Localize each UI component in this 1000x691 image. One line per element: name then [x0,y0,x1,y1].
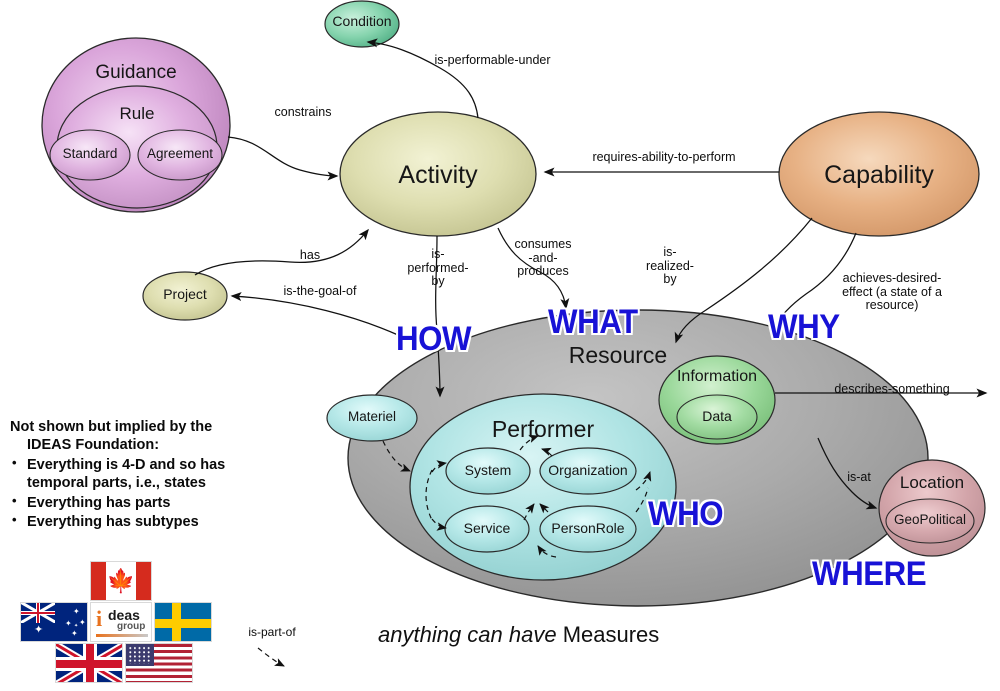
node-label-location: Location [882,473,982,492]
edge-label-consumes-and-produces: consumes -and- produces [494,238,592,279]
ideas-logo-underline [96,634,148,637]
edge-label-requires-ability-to-perform: requires-ability-to-perform [566,151,762,165]
node-label-agreement: Agreement [138,146,222,161]
node-label-information: Information [660,368,774,386]
union-jack-canton [21,603,55,623]
question-word-what: WHAT [548,303,638,342]
commonwealth-star-icon: ✦ [34,625,43,636]
canada-flag-icon: 🍁 [90,561,152,601]
question-word-how: HOW [396,320,471,359]
sweden-cross-horizontal [155,619,211,628]
node-label-guidance: Guidance [66,62,206,83]
node-label-standard: Standard [50,146,130,161]
united-states-flag-icon [125,643,193,683]
edge-is-the-goal-of [232,296,398,335]
diagram-canvas: Activity Capability Condition Guidance R… [0,0,1000,691]
edge-is-part-of-legend [258,648,284,666]
southern-cross-star-icon: ✦ [71,630,78,638]
implied-notes-block: Not shown but implied by the IDEAS Found… [10,418,275,531]
edge-label-achieves-desired-effect: achieves-desired- effect (a state of a r… [818,272,966,313]
node-label-rule: Rule [87,104,187,123]
canada-flag-band-right [136,562,151,600]
canton-cross-horizontal-red [21,612,55,614]
node-label-project: Project [145,287,225,303]
notes-bullet-item: Everything has parts [10,494,275,512]
southern-cross-star-icon: ✦ [65,620,72,628]
notes-bullet-list: Everything is 4-D and so has temporal pa… [10,456,275,532]
southern-cross-star-icon: ✦ [79,619,86,627]
notes-heading-line1: Not shown but implied by the [10,418,275,436]
node-label-personrole: PersonRole [540,521,636,537]
uk-cross-horizontal-red [56,660,122,668]
united-kingdom-flag-icon [55,643,123,683]
edge-label-has: has [290,249,330,263]
edge-label-is-the-goal-of: is-the-goal-of [266,285,374,299]
node-label-data: Data [677,409,757,425]
canada-flag-band-left [91,562,106,600]
edge-label-describes-something: describes-something [812,383,972,397]
footer-measures-statement: anything can have Measures [378,622,659,648]
southern-cross-star-icon: ✦ [74,624,78,629]
edge-label-is-part-of: is-part-of [236,626,308,639]
node-label-service: Service [447,521,527,537]
edge-label-is-performed-by: is- performed- by [392,248,484,289]
node-label-condition: Condition [325,14,399,30]
node-label-system: System [448,463,528,479]
ideas-group-logo: i deas group [90,602,152,642]
edge-label-is-performable-under: is-performable-under [410,54,575,68]
edge-has [195,230,368,275]
us-flag-union [126,644,154,666]
node-label-geopolitical: GeoPolitical [880,512,980,527]
edge-label-is-at: is-at [838,471,880,485]
sweden-flag-icon [154,602,212,642]
notes-bullet-item: Everything is 4-D and so has temporal pa… [10,456,275,493]
question-word-where: WHERE [812,555,926,594]
node-label-resource: Resource [508,343,728,369]
notes-bullet-item: Everything has subtypes [10,513,275,531]
ideas-logo-group-text: group [117,622,145,632]
node-label-capability: Capability [773,161,985,189]
edge-label-is-realized-by: is- realized- by [634,246,706,287]
footer-plain-text: Measures [557,622,660,647]
australia-flag-icon: ✦ ✦ ✦ ✦ ✦ ✦ [20,602,88,642]
member-nation-flags: 🍁 ✦ ✦ ✦ ✦ ✦ ✦ i deas group [12,561,212,683]
edge-label-constrains: constrains [258,106,348,120]
footer-italic-text: anything can have [378,622,557,647]
southern-cross-star-icon: ✦ [73,608,80,616]
node-label-activity: Activity [332,161,544,189]
question-word-why: WHY [768,308,840,347]
us-flag-stars [128,646,152,664]
ideas-logo-deas-text: deas [108,608,140,622]
node-label-materiel: Materiel [332,409,412,424]
notes-heading-line2: IDEAS Foundation: [10,436,275,454]
maple-leaf-icon: 🍁 [107,570,136,593]
node-label-performer: Performer [443,417,643,443]
question-word-who: WHO [648,495,723,534]
edge-constrains [228,137,337,176]
ideas-logo-i-letter: i [96,608,102,630]
node-label-organization: Organization [540,463,636,479]
